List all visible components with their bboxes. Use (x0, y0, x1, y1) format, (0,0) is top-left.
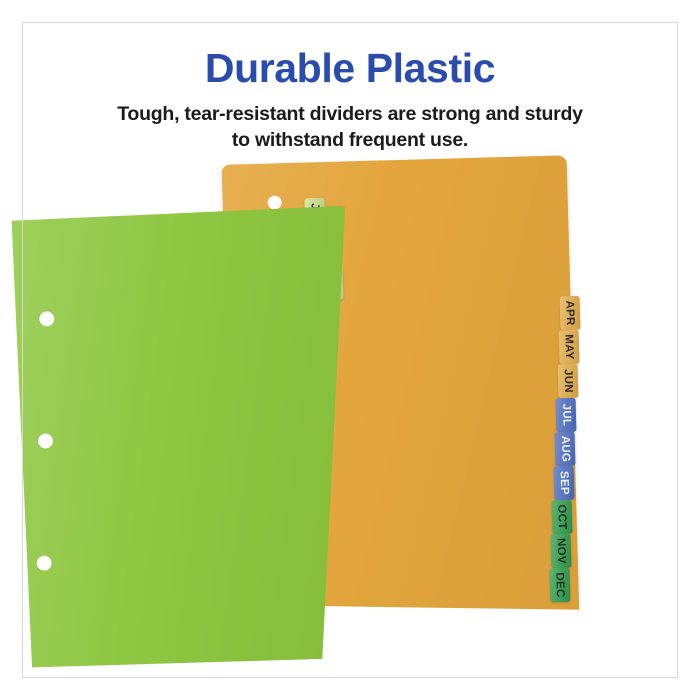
tab-jun-label: JUN (562, 369, 575, 393)
tab-aug[interactable]: AUG (555, 432, 576, 467)
tab-may-label: MAY (563, 334, 576, 360)
tab-nov-label: NOV (555, 538, 568, 564)
tab-dec-label: DEC (554, 572, 567, 597)
green-divider-sheet (9, 206, 362, 671)
product-image-canvas: Durable Plastic Tough, tear-resistant di… (0, 0, 700, 700)
tab-jul-label: JUL (560, 404, 573, 427)
tab-sep[interactable]: SEP (554, 466, 575, 501)
tab-apr-label: APR (564, 300, 577, 325)
subtitle-line-2: to withstand frequent use. (0, 128, 700, 154)
product-photo: JAN FEB MAR APR MAY JUN JUL (0, 150, 700, 680)
tab-oct-label: OCT (556, 504, 569, 529)
tab-aug-label: AUG (559, 436, 572, 463)
tab-jul[interactable]: JUL (556, 398, 577, 433)
tab-sep-label: SEP (558, 471, 571, 495)
tab-oct[interactable]: OCT (552, 500, 573, 535)
tab-may[interactable]: MAY (559, 330, 580, 365)
tab-nov[interactable]: NOV (551, 534, 572, 569)
tab-jun[interactable]: JUN (558, 364, 579, 399)
subtitle-line-1: Tough, tear-resistant dividers are stron… (117, 103, 583, 125)
green-sheet-sheen (9, 206, 362, 671)
marketing-copy: Durable Plastic Tough, tear-resistant di… (0, 0, 700, 154)
page-title: Durable Plastic (0, 0, 700, 90)
tab-apr[interactable]: APR (560, 296, 581, 331)
page-subtitle: Tough, tear-resistant dividers are stron… (0, 90, 700, 154)
tab-dec[interactable]: DEC (550, 568, 571, 603)
